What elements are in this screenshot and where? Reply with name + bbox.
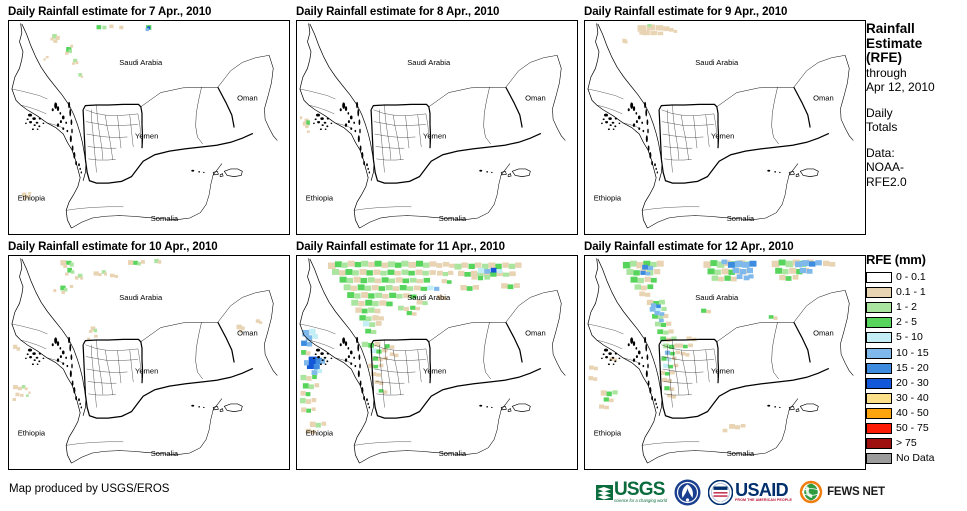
legend-swatch	[866, 332, 892, 343]
label-ethiopia: Ethiopia	[18, 193, 46, 202]
map-panel-5: Daily Rainfall estimate for 11 Apr., 201…	[296, 239, 576, 255]
label-saudi-arabia: Saudi Arabia	[695, 58, 739, 67]
legend-label: 20 - 30	[896, 378, 929, 389]
legend-row: 0.1 - 1	[866, 285, 967, 300]
label-yemen: Yemen	[135, 367, 158, 376]
legend-label: No Data	[896, 453, 935, 464]
legend-row: 0 - 0.1	[866, 270, 967, 285]
label-somalia: Somalia	[151, 449, 179, 458]
legend-label: > 75	[896, 438, 917, 449]
map-frame-2[interactable]: Saudi Arabia Oman Yemen Ethiopia Somalia	[296, 20, 578, 235]
label-somalia: Somalia	[439, 449, 467, 458]
label-oman: Oman	[813, 328, 834, 337]
legend-row: 20 - 30	[866, 376, 967, 391]
map-frame-1[interactable]: Saudi Arabia Oman Yemen Ethiopia Somalia	[8, 20, 290, 235]
label-saudi-arabia: Saudi Arabia	[119, 58, 163, 67]
legend-label: 30 - 40	[896, 393, 929, 404]
legend-row: 50 - 75	[866, 421, 967, 436]
legend-swatch	[866, 317, 892, 328]
legend-row: 30 - 40	[866, 391, 967, 406]
map-panel-1: Daily Rainfall estimate for 7 Apr., 2010…	[8, 4, 288, 20]
legend-swatch	[866, 423, 892, 434]
map-panel-title-5: Daily Rainfall estimate for 11 Apr., 201…	[296, 239, 576, 255]
rainfall-map-canvas: Saudi Arabia Oman Yemen Ethiopia Somalia	[297, 21, 577, 234]
legend-label: 0 - 0.1	[896, 272, 926, 283]
legend-row: No Data	[866, 451, 967, 466]
rainfall-map-canvas: Saudi Arabia Oman Yemen Ethiopia Somalia	[9, 21, 289, 234]
map-frame-5[interactable]: Saudi Arabia Oman Yemen Ethiopia Somalia	[296, 255, 578, 470]
label-oman: Oman	[237, 328, 258, 337]
legend-swatch	[866, 378, 892, 389]
usgs-mark-icon	[596, 484, 613, 501]
map-panel-title-2: Daily Rainfall estimate for 8 Apr., 2010	[296, 4, 576, 20]
label-somalia: Somalia	[151, 214, 179, 223]
rainfall-map-canvas: Saudi Arabia Oman Yemen Ethiopia Somalia	[297, 256, 577, 469]
sidebar-title-line2: Estimate	[866, 37, 967, 52]
map-panel-2: Daily Rainfall estimate for 8 Apr., 2010…	[296, 4, 576, 20]
rainfall-map-canvas: Saudi Arabia Oman Yemen Ethiopia Somalia	[585, 21, 865, 234]
noaa-seal-icon	[674, 479, 701, 506]
legend-row: 10 - 15	[866, 345, 967, 360]
fews-globe-icon	[799, 480, 823, 504]
map-frame-4[interactable]: Saudi Arabia Oman Yemen Ethiopia Somalia	[8, 255, 290, 470]
agency-logo-bar: USGS science for a changing world USAID …	[596, 477, 885, 507]
legend-label: 2 - 5	[896, 317, 917, 328]
usaid-tagline: FROM THE AMERICAN PEOPLE	[735, 498, 792, 503]
label-oman: Oman	[813, 93, 834, 102]
fews-net-wordmark: FEWS NET	[827, 486, 885, 498]
usaid-seal-icon	[708, 480, 733, 505]
legend-swatch	[866, 272, 892, 283]
legend-label: 40 - 50	[896, 408, 929, 419]
legend-label: 5 - 10	[896, 332, 923, 343]
sidebar-through-date: Apr 12, 2010	[866, 80, 967, 95]
noaa-logo	[674, 479, 701, 506]
label-yemen: Yemen	[711, 367, 734, 376]
sidebar-data-source2: RFE2.0	[866, 175, 967, 190]
label-oman: Oman	[525, 93, 546, 102]
sidebar-title-line3: (RFE)	[866, 51, 967, 66]
sidebar-info: Rainfall Estimate (RFE) through Apr 12, …	[866, 22, 967, 189]
label-ethiopia: Ethiopia	[18, 428, 46, 437]
map-panel-4: Daily Rainfall estimate for 10 Apr., 201…	[8, 239, 288, 255]
label-ethiopia: Ethiopia	[594, 193, 622, 202]
legend-swatch	[866, 302, 892, 313]
legend-row: 1 - 2	[866, 300, 967, 315]
label-saudi-arabia: Saudi Arabia	[407, 58, 451, 67]
label-yemen: Yemen	[423, 367, 446, 376]
sidebar-daily-label: Daily	[866, 106, 967, 121]
usaid-wordmark: USAID	[735, 482, 792, 498]
label-saudi-arabia: Saudi Arabia	[695, 293, 739, 302]
legend-row: 5 - 10	[866, 330, 967, 345]
rainfall-map-canvas: Saudi Arabia Oman Yemen Ethiopia Somalia	[9, 256, 289, 469]
label-yemen: Yemen	[423, 132, 446, 141]
legend-label: 15 - 20	[896, 363, 929, 374]
sidebar-through-label: through	[866, 66, 967, 81]
map-credit: Map produced by USGS/EROS	[9, 483, 169, 495]
label-saudi-arabia: Saudi Arabia	[119, 293, 163, 302]
legend-row: 15 - 20	[866, 361, 967, 376]
map-panel-6: Daily Rainfall estimate for 12 Apr., 201…	[584, 239, 864, 255]
usaid-logo: USAID FROM THE AMERICAN PEOPLE	[708, 480, 792, 505]
legend-label: 0.1 - 1	[896, 287, 926, 298]
legend-swatch	[866, 287, 892, 298]
label-somalia: Somalia	[439, 214, 467, 223]
legend-label: 50 - 75	[896, 423, 929, 434]
legend-title: RFE (mm)	[866, 252, 967, 267]
legend-swatch	[866, 393, 892, 404]
sidebar-data-label: Data:	[866, 146, 967, 161]
legend-label: 10 - 15	[896, 348, 929, 359]
label-somalia: Somalia	[727, 214, 755, 223]
fews-net-logo: FEWS NET	[799, 480, 885, 504]
map-frame-6[interactable]: Saudi Arabia Oman Yemen Ethiopia Somalia	[584, 255, 866, 470]
label-saudi-arabia: Saudi Arabia	[407, 293, 451, 302]
legend-swatch	[866, 408, 892, 419]
legend-swatch	[866, 453, 892, 464]
label-somalia: Somalia	[727, 449, 755, 458]
map-panel-3: Daily Rainfall estimate for 9 Apr., 2010…	[584, 4, 864, 20]
label-ethiopia: Ethiopia	[594, 428, 622, 437]
legend-swatch	[866, 438, 892, 449]
rfe-legend: RFE (mm) 0 - 0.1 0.1 - 1 1 - 2 2 - 5 5 -…	[866, 252, 967, 466]
legend-row: 2 - 5	[866, 315, 967, 330]
rainfall-map-canvas: Saudi Arabia Oman Yemen Ethiopia Somalia	[585, 256, 865, 469]
map-panel-title-4: Daily Rainfall estimate for 10 Apr., 201…	[8, 239, 288, 255]
sidebar-totals-label: Totals	[866, 120, 967, 135]
legend-label: 1 - 2	[896, 302, 917, 313]
usgs-wordmark: USGS	[614, 481, 667, 498]
sidebar-data-source1: NOAA-	[866, 160, 967, 175]
label-oman: Oman	[237, 93, 258, 102]
usgs-tagline: science for a changing world	[614, 498, 667, 503]
label-ethiopia: Ethiopia	[306, 193, 334, 202]
legend-swatch	[866, 363, 892, 374]
legend-swatch	[866, 348, 892, 359]
label-oman: Oman	[525, 328, 546, 337]
map-frame-3[interactable]: Saudi Arabia Oman Yemen Ethiopia Somalia	[584, 20, 866, 235]
label-yemen: Yemen	[711, 132, 734, 141]
map-panel-title-3: Daily Rainfall estimate for 9 Apr., 2010	[584, 4, 864, 20]
label-yemen: Yemen	[135, 132, 158, 141]
map-panel-title-1: Daily Rainfall estimate for 7 Apr., 2010	[8, 4, 288, 20]
usgs-logo: USGS science for a changing world	[596, 481, 667, 503]
legend-row: 40 - 50	[866, 406, 967, 421]
label-ethiopia: Ethiopia	[306, 428, 334, 437]
sidebar-title-line1: Rainfall	[866, 22, 967, 37]
map-panel-title-6: Daily Rainfall estimate for 12 Apr., 201…	[584, 239, 864, 255]
legend-row: > 75	[866, 436, 967, 451]
